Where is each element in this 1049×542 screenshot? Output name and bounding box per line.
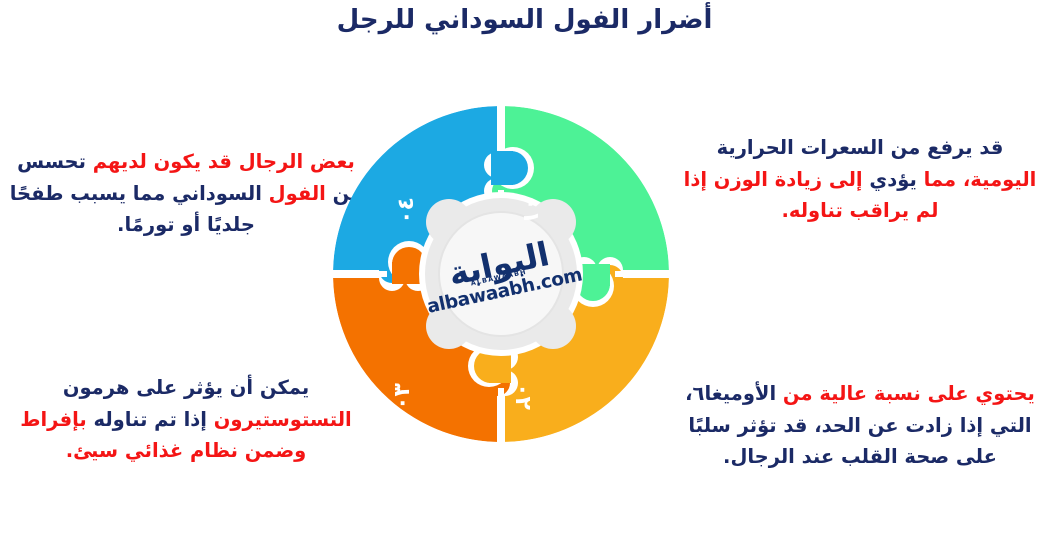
quadrant-2-numeral: ٠٢ xyxy=(510,383,535,410)
item-2-description: يحتوي على نسبة عالية من الأوميغا٦، التي … xyxy=(679,378,1041,473)
text-run: الفول xyxy=(262,182,326,205)
item-3-description: يمكن أن يؤثر على هرمون التستوستيرون إذا … xyxy=(6,372,366,467)
albawaabh-logo: البوابة ALBAWAABH albawaabh.com xyxy=(412,185,590,363)
text-run: بعض الرجال قد يكون لديهم xyxy=(86,150,355,173)
text-run: السوداني مما يسبب طفحًا جلديًا أو تورمًا… xyxy=(10,182,262,237)
item-4-description: بعض الرجال قد يكون لديهم تحسس من الفول ا… xyxy=(6,146,366,241)
text-run: قد يرفع من السعرات الحرارية xyxy=(717,136,1004,159)
infographic-canvas: أضرار الفول السوداني للرجل قد يرفع من ال… xyxy=(0,0,1049,542)
text-run: يؤدي xyxy=(863,168,917,191)
quadrant-3-numeral: ٠٣ xyxy=(390,383,415,410)
text-run: اليومية، مما xyxy=(917,168,1037,191)
item-1-description: قد يرفع من السعرات الحرارية اليومية، مما… xyxy=(679,132,1041,227)
puzzle-knob-top xyxy=(491,147,534,189)
puzzle-wheel: ٠١ ٠٢ ٠٣ ٠٤ البوابة ALBAWAABH albawaabh.… xyxy=(331,104,671,444)
text-run: يحتوي على نسبة عالية من xyxy=(776,382,1035,405)
text-run: إذا تم تناوله xyxy=(87,408,207,431)
text-run: يمكن أن يؤثر على هرمون xyxy=(63,376,309,399)
page-title: أضرار الفول السوداني للرجل xyxy=(0,4,1049,37)
